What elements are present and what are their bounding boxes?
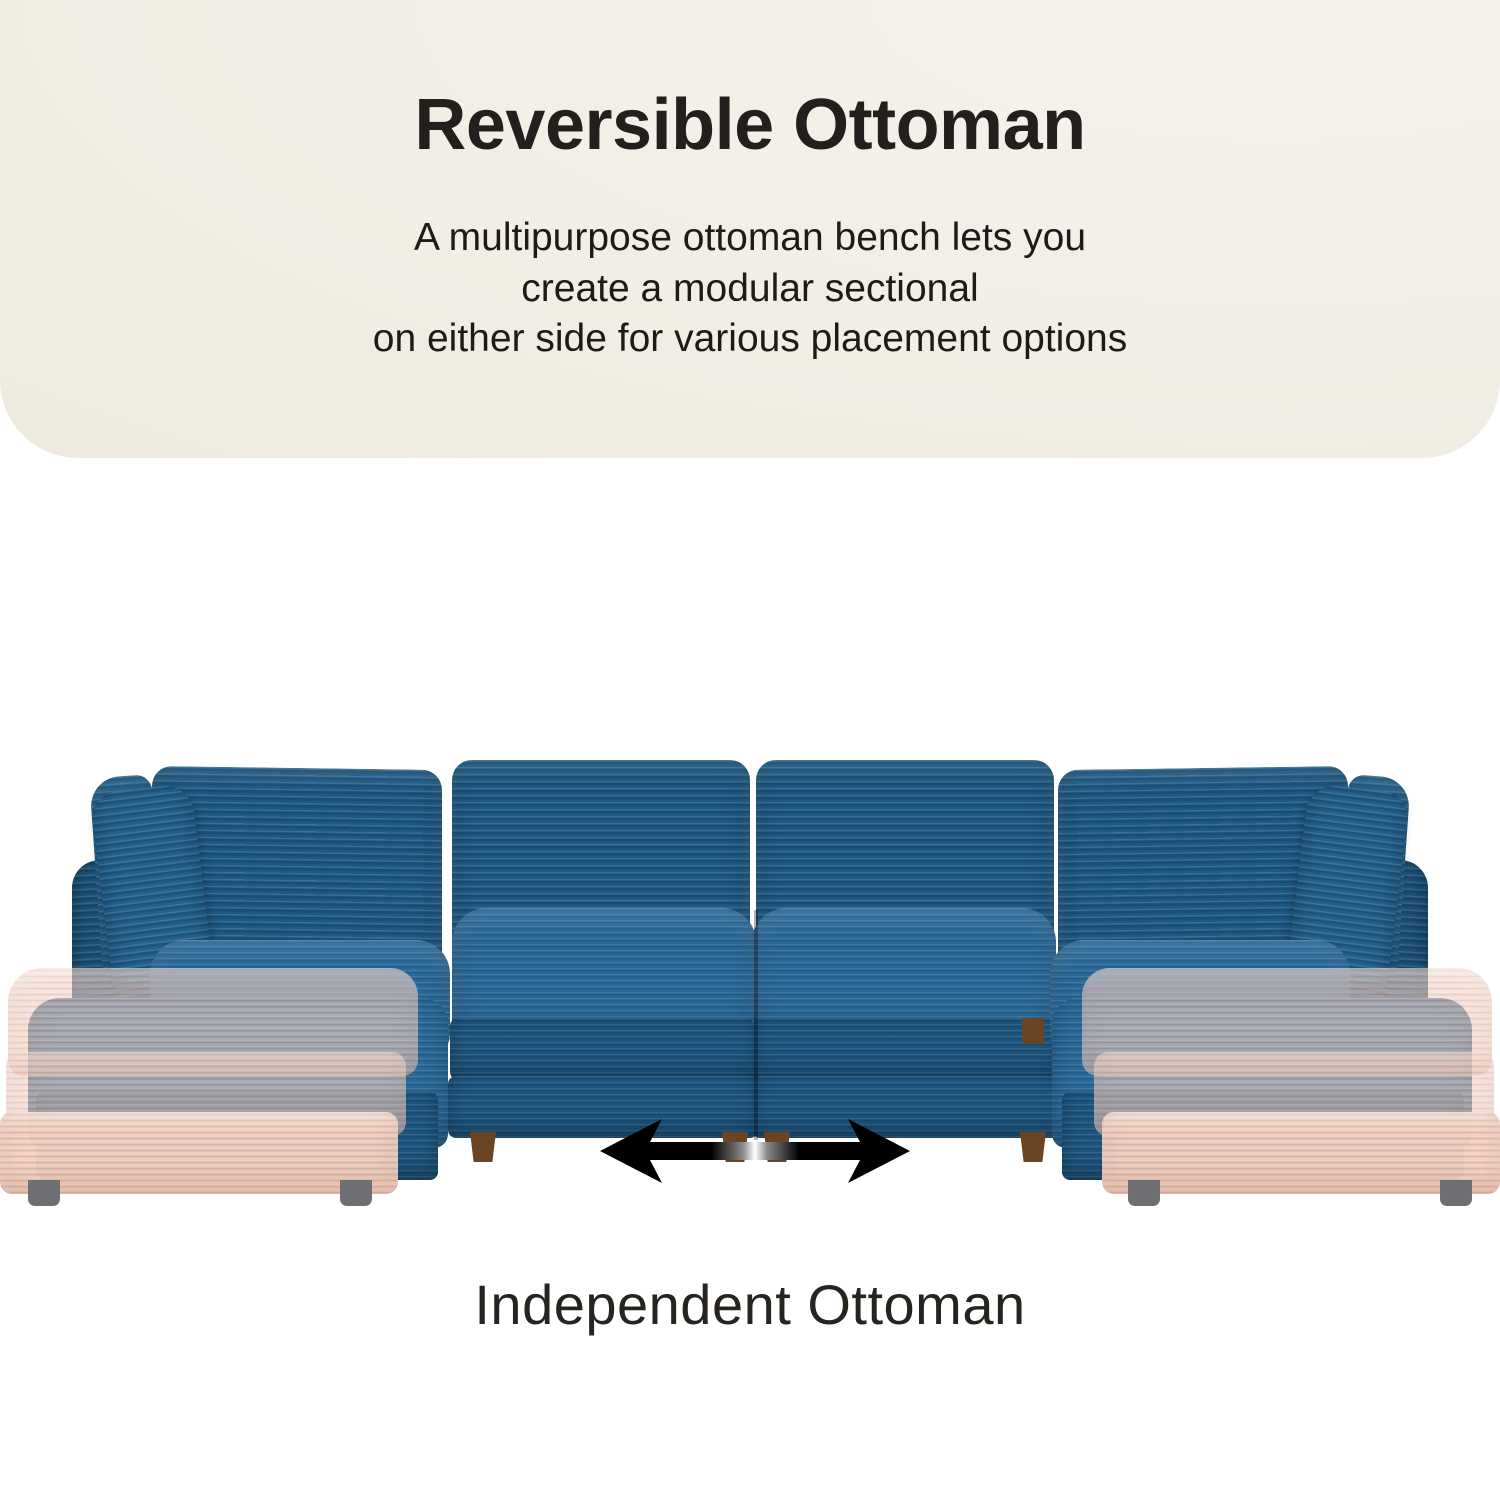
double-headed-arrow-icon [600,1115,910,1187]
sofa-base-center-left [450,1018,758,1080]
sofa-foot-right-module [1022,1018,1044,1044]
sofa-base-center-right [752,1018,1060,1080]
subtitle-line-2: create a modular sectional [0,264,1500,315]
product-feature-image: Reversible Ottoman A multipurpose ottoma… [0,0,1500,1500]
sectional-sofa-illustration [0,740,1500,1240]
ottoman-right-foot-back [1128,1180,1160,1206]
header-subtitle: A multipurpose ottoman bench lets you cr… [0,213,1500,365]
header-panel: Reversible Ottoman A multipurpose ottoma… [0,0,1500,458]
ottoman-left-foot-back [340,1180,372,1206]
subtitle-line-3: on either side for various placement opt… [0,314,1500,365]
reversible-direction-annotation [600,1115,910,1187]
ottoman-right-foot-front [1440,1180,1472,1206]
ottoman-left-foot-front [28,1180,60,1206]
subtitle-line-1: A multipurpose ottoman bench lets you [0,213,1500,264]
product-caption: Independent Ottoman [0,1272,1500,1337]
sofa-foot-center-right-outer [1020,1132,1046,1162]
sofa-center-seam [754,910,758,1140]
page-title: Reversible Ottoman [0,88,1500,164]
sofa-foot-center-left [470,1132,496,1162]
